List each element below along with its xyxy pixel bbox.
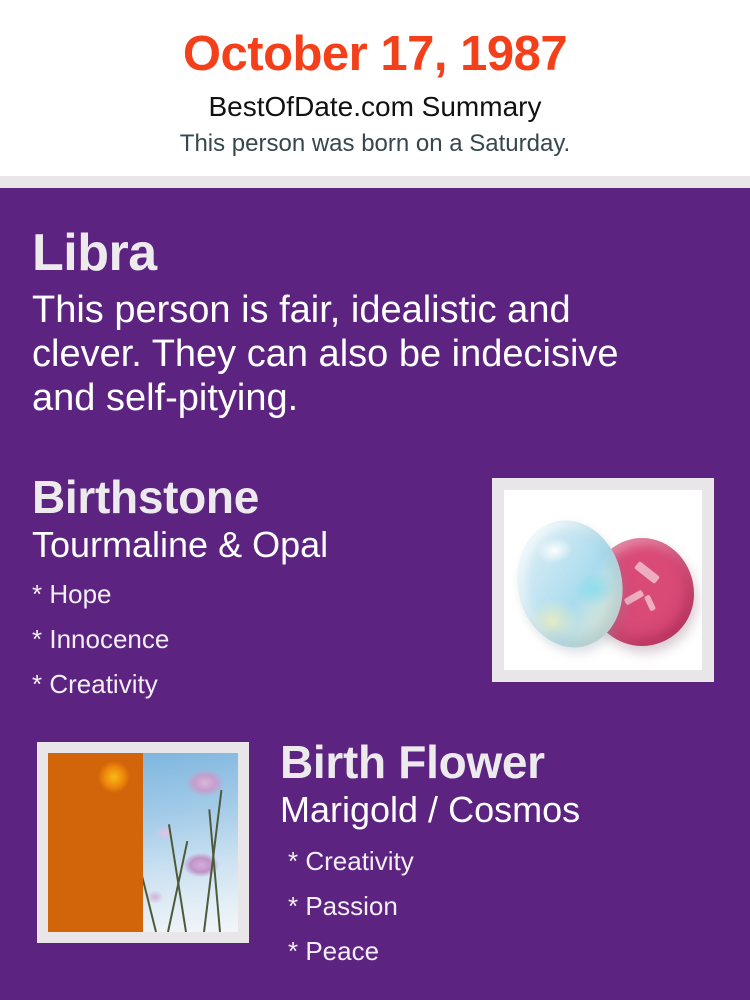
birthstone-image bbox=[504, 490, 702, 670]
page-header: October 17, 1987 BestOfDate.com Summary … bbox=[0, 0, 750, 176]
birth-flower-image-frame bbox=[37, 742, 249, 943]
birthstone-section: Birthstone Tourmaline & Opal * Hope * In… bbox=[32, 471, 472, 707]
summary-body: Libra This person is fair, idealistic an… bbox=[0, 188, 750, 1000]
born-weekday-line: This person was born on a Saturday. bbox=[0, 124, 750, 159]
birthstone-title: Birthstone bbox=[32, 471, 472, 523]
list-item: * Innocence bbox=[32, 617, 472, 662]
list-item: * Creativity bbox=[288, 839, 730, 884]
zodiac-section: Libra This person is fair, idealistic an… bbox=[32, 224, 672, 420]
list-item: * Hope bbox=[32, 572, 472, 617]
birth-flower-trait-list: * Creativity * Passion * Peace bbox=[280, 831, 730, 974]
birth-flower-image bbox=[48, 753, 238, 932]
birth-flower-section: Birth Flower Marigold / Cosmos * Creativ… bbox=[280, 736, 730, 974]
header-divider bbox=[0, 176, 750, 188]
page-title-date: October 17, 1987 bbox=[0, 0, 750, 84]
marigold-photo-half bbox=[48, 753, 143, 932]
birth-flower-title: Birth Flower bbox=[280, 736, 730, 788]
list-item: * Peace bbox=[288, 929, 730, 974]
birthstone-trait-list: * Hope * Innocence * Creativity bbox=[32, 566, 472, 707]
cosmos-photo-half bbox=[143, 753, 238, 932]
infographic-page: October 17, 1987 BestOfDate.com Summary … bbox=[0, 0, 750, 1000]
list-item: * Creativity bbox=[32, 662, 472, 707]
zodiac-description: This person is fair, idealistic and clev… bbox=[32, 282, 632, 420]
list-item: * Passion bbox=[288, 884, 730, 929]
birth-flower-name: Marigold / Cosmos bbox=[280, 788, 730, 831]
site-name-subtitle: BestOfDate.com Summary bbox=[0, 84, 750, 124]
birthstone-name: Tourmaline & Opal bbox=[32, 523, 472, 566]
zodiac-sign-title: Libra bbox=[32, 224, 672, 282]
birthstone-image-frame bbox=[492, 478, 714, 682]
